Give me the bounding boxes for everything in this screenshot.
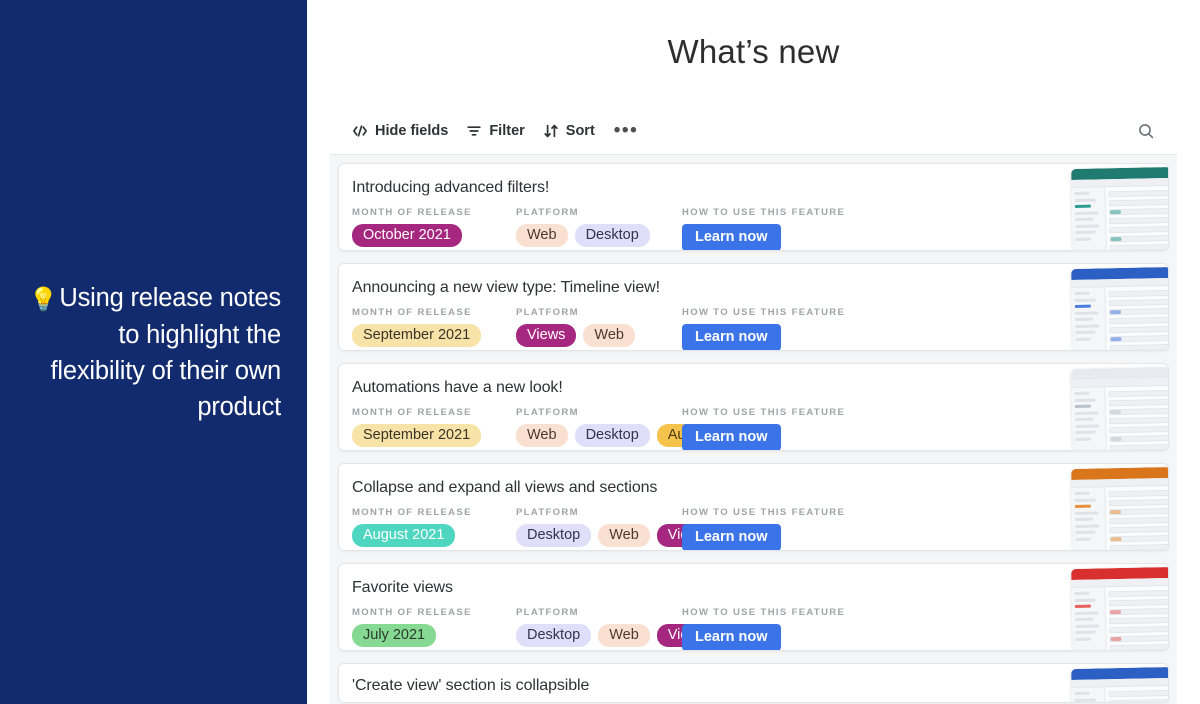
platform-pill: Desktop [575,224,650,247]
page-title: What’s new [307,0,1200,72]
learn-now-button[interactable]: Learn now [682,624,781,651]
thumbnail-grid [1105,586,1169,651]
lightbulb-icon: 💡 [29,281,57,317]
field-label-month: MONTH OF RELEASE [352,607,516,618]
field-month-of-release: MONTH OF RELEASESeptember 2021 [352,407,516,447]
record-title: Introducing advanced filters! [352,178,1150,198]
month-pill-row: August 2021 [352,524,516,547]
field-how-to-use: HOW TO USE THIS FEATURELearn now [682,607,882,651]
thumbnail-grid [1105,286,1169,351]
sort-icon [543,123,559,139]
record-card-list: Introducing advanced filters!MONTH OF RE… [330,155,1177,703]
field-platform: PLATFORMViewsWeb [516,307,682,347]
record-card[interactable]: Favorite viewsMONTH OF RELEASEJuly 2021P… [338,563,1169,651]
thumbnail-body [1071,586,1169,651]
month-pill: September 2021 [352,324,481,347]
thumbnail-sidebar [1071,587,1106,651]
platform-pill-row: WebDesktopAu [516,424,682,447]
month-pill: October 2021 [352,224,462,247]
field-label-how-to-use: HOW TO USE THIS FEATURE [682,207,882,218]
app-root: 💡Using release notes to highlight the fl… [0,0,1200,704]
sort-label: Sort [566,123,595,139]
month-pill-row: October 2021 [352,224,516,247]
thumbnail-sidebar [1071,287,1106,351]
filter-button[interactable]: Filter [457,117,533,145]
field-month-of-release: MONTH OF RELEASEOctober 2021 [352,207,516,247]
thumbnail-sidebar [1071,687,1106,703]
hide-fields-label: Hide fields [375,123,448,139]
more-options-icon[interactable]: ••• [604,117,648,145]
record-thumbnail [1071,167,1169,251]
learn-now-button[interactable]: Learn now [682,524,781,551]
record-fields: MONTH OF RELEASESeptember 2021PLATFORMVi… [352,307,1150,351]
filter-icon [466,123,482,139]
month-pill: July 2021 [352,624,436,647]
record-title: Collapse and expand all views and sectio… [352,478,1150,498]
hide-fields-button[interactable]: Hide fields [343,117,457,145]
sidebar-caption-panel: 💡Using release notes to highlight the fl… [0,0,307,704]
platform-pill: Desktop [516,624,591,647]
field-label-how-to-use: HOW TO USE THIS FEATURE [682,307,882,318]
learn-now-button[interactable]: Learn now [682,324,781,351]
platform-pill-row: DesktopWebVie [516,624,682,647]
platform-pill: Views [516,324,576,347]
filter-label: Filter [489,123,524,139]
record-card[interactable]: Automations have a new look!MONTH OF REL… [338,363,1169,451]
sort-button[interactable]: Sort [534,117,604,145]
field-label-month: MONTH OF RELEASE [352,307,516,318]
field-label-month: MONTH OF RELEASE [352,507,516,518]
field-how-to-use: HOW TO USE THIS FEATURELearn now [682,507,882,551]
field-month-of-release: MONTH OF RELEASESeptember 2021 [352,307,516,347]
platform-pill: Web [598,524,650,547]
sidebar-caption-copy: Using release notes to highlight the fle… [51,284,281,421]
learn-now-button[interactable]: Learn now [682,424,781,451]
record-thumbnail [1071,367,1169,451]
platform-pill: Web [583,324,635,347]
platform-pill: Web [516,224,568,247]
thumbnail-body [1071,286,1169,351]
field-label-platform: PLATFORM [516,607,682,618]
records-board: Hide fields Filter [330,108,1177,704]
record-title: Announcing a new view type: Timeline vie… [352,278,1150,298]
hide-fields-icon [352,123,368,139]
field-label-how-to-use: HOW TO USE THIS FEATURE [682,407,882,418]
field-platform: PLATFORMDesktopWebVie [516,607,682,647]
thumbnail-grid [1105,386,1169,451]
record-thumbnail [1071,467,1169,551]
record-fields: MONTH OF RELEASEAugust 2021PLATFORMDeskt… [352,507,1150,551]
record-card[interactable]: Announcing a new view type: Timeline vie… [338,263,1169,351]
record-fields: MONTH OF RELEASEJuly 2021PLATFORMDesktop… [352,607,1150,651]
month-pill: August 2021 [352,524,455,547]
record-card[interactable]: Introducing advanced filters!MONTH OF RE… [338,163,1169,251]
field-label-month: MONTH OF RELEASE [352,407,516,418]
record-fields: MONTH OF RELEASEOctober 2021PLATFORMWebD… [352,207,1150,251]
search-icon[interactable] [1131,116,1161,146]
month-pill-row: September 2021 [352,324,516,347]
record-thumbnail [1071,267,1169,351]
record-thumbnail [1071,667,1169,703]
field-how-to-use: HOW TO USE THIS FEATURELearn now [682,307,882,351]
main-content: What’s new Hide fields [307,0,1200,704]
field-how-to-use: HOW TO USE THIS FEATURELearn now [682,407,882,451]
platform-pill: Desktop [575,424,650,447]
view-toolbar: Hide fields Filter [330,108,1177,155]
record-fields: MONTH OF RELEASESeptember 2021PLATFORMWe… [352,407,1150,451]
field-label-platform: PLATFORM [516,407,682,418]
platform-pill-row: WebDesktop [516,224,682,247]
field-how-to-use: HOW TO USE THIS FEATURELearn now [682,207,882,251]
thumbnail-sidebar [1071,187,1106,251]
thumbnail-body [1071,486,1169,551]
platform-pill-row: ViewsWeb [516,324,682,347]
platform-pill: Desktop [516,524,591,547]
field-platform: PLATFORMWebDesktop [516,207,682,247]
record-card[interactable]: 'Create view' section is collapsible [338,663,1169,703]
month-pill: September 2021 [352,424,481,447]
record-title: Favorite views [352,578,1150,598]
record-thumbnail [1071,567,1169,651]
field-platform: PLATFORMDesktopWebVie [516,507,682,547]
thumbnail-body [1071,186,1169,251]
record-title: Automations have a new look! [352,378,1150,398]
field-label-platform: PLATFORM [516,507,682,518]
thumbnail-body [1071,686,1169,703]
thumbnail-sidebar [1071,387,1106,451]
learn-now-button[interactable]: Learn now [682,224,781,251]
thumbnail-grid [1105,186,1169,251]
field-month-of-release: MONTH OF RELEASEJuly 2021 [352,607,516,647]
thumbnail-grid [1105,486,1169,551]
platform-pill: Web [598,624,650,647]
field-platform: PLATFORMWebDesktopAu [516,407,682,447]
month-pill-row: July 2021 [352,624,516,647]
field-label-platform: PLATFORM [516,307,682,318]
field-label-how-to-use: HOW TO USE THIS FEATURE [682,607,882,618]
platform-pill-row: DesktopWebVie [516,524,682,547]
thumbnail-sidebar [1071,487,1106,551]
sidebar-caption-text: 💡Using release notes to highlight the fl… [20,280,281,425]
field-label-how-to-use: HOW TO USE THIS FEATURE [682,507,882,518]
field-month-of-release: MONTH OF RELEASEAugust 2021 [352,507,516,547]
field-label-platform: PLATFORM [516,207,682,218]
platform-pill: Web [516,424,568,447]
thumbnail-body [1071,386,1169,451]
record-card[interactable]: Collapse and expand all views and sectio… [338,463,1169,551]
month-pill-row: September 2021 [352,424,516,447]
thumbnail-grid [1105,686,1169,703]
record-title: 'Create view' section is collapsible [352,676,1150,696]
field-label-month: MONTH OF RELEASE [352,207,516,218]
